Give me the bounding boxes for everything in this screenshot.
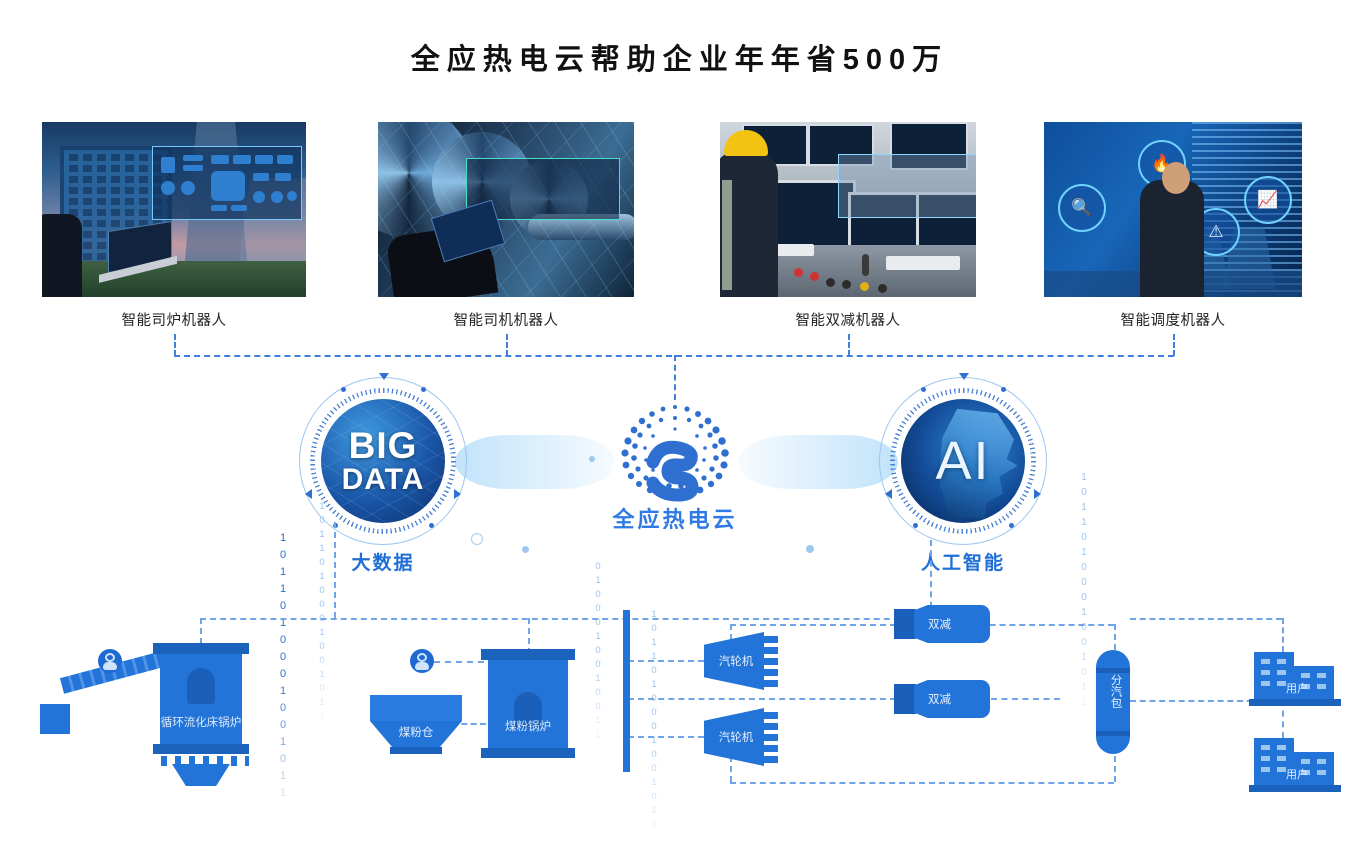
steam-drum-band-bottom [1096,731,1130,736]
ai-dot-tl [921,387,926,392]
turbine-1-fin [764,680,778,687]
customer-1-drop [1282,618,1284,652]
customer-2-window [1261,745,1270,750]
steam-drum: 分汽包 [1096,650,1130,754]
customer-2-window [1277,745,1286,750]
customer-2-base [1249,785,1341,792]
ai-text: AI [935,430,990,492]
turbine-2-fin [764,734,778,741]
caption-dropper-2 [506,334,508,356]
coal-bunker: 煤粉仓 [370,695,462,755]
binary-column-e: 1011010001001011 [1078,470,1090,710]
customer-2: 用户 [1254,738,1340,792]
turbine-2-fin [764,756,778,763]
bigdata-marker-top [379,373,389,380]
turbine-2-fin [764,745,778,752]
bigdata-dot-br [429,523,434,528]
page-title: 全应热电云帮助企业年年省500万 [0,36,1359,78]
turbine-1: 汽轮机 [704,632,778,690]
reducer-1-block [894,609,916,639]
steam-drum-label: 分汽包 [1105,674,1122,709]
robot-node-icon [98,649,122,673]
floating-dot-3 [806,545,814,553]
reducer-2-cone [914,680,990,718]
photo-card-1 [42,122,306,297]
binary-column-b: 1011010001001011 [316,500,328,724]
drum-to-customer-1-bus [1130,618,1282,620]
caption-dropper-3 [848,334,850,356]
bigdata-marker-left [305,489,312,499]
pc-boiler-top-cap [481,649,575,660]
floating-dot-2 [522,546,529,553]
reducer-1: 双减 [894,605,992,643]
turbine-2-fin [764,712,778,719]
photo-3-hud-overlay [838,154,976,218]
ai-label: 人工智能 [863,548,1063,575]
ai-dot-bl [913,523,918,528]
pc-boiler: 煤粉锅炉 [488,660,568,748]
coal-conveyor [40,686,170,732]
header-to-reducer-bus [628,698,896,700]
bigdata-marker-right [454,489,461,499]
turbine2-bottom-bus [730,782,1114,784]
bigdata-text: BIG DATA [342,427,425,495]
steam-drum-band-top [1096,668,1130,673]
customer-2-window [1277,756,1286,761]
turbine-1-label: 汽轮机 [708,653,764,669]
photo-caption-2: 智能司机机器人 [378,309,634,330]
bigdata-dot-tr [421,387,426,392]
header-to-turbine-1 [628,660,704,662]
ai-dot-br [1009,523,1014,528]
turbine-2: 汽轮机 [704,708,778,766]
photo-1-person [42,214,82,297]
ribbon-cloud-to-ai [738,435,898,489]
ai-marker-right [1034,489,1041,499]
caption-dropper-4 [1173,334,1175,356]
binary-column-d: 1011010001001011 [648,608,660,832]
customer-1-label: 用户 [1254,680,1340,696]
turbine1-to-reducer1 [730,624,896,626]
cloud-feed-dropper [674,355,676,400]
coal-bunker-foot [390,747,442,754]
ai-dot-tr [1001,387,1006,392]
reducer-1-cone [914,605,990,643]
photo-3-console-button [794,268,803,277]
turbine-1-fin [764,658,778,665]
ai-globe: AI [901,399,1025,523]
turbine-1-fin [764,636,778,643]
photo-3-console-joystick [862,254,869,276]
steam-header-pipe [623,610,630,772]
plant-top-bus [200,618,930,620]
ai-marker-top [959,373,969,380]
cloud-label: 全应热电云 [573,502,777,534]
bigdata-globe: BIG DATA [321,399,445,523]
photo-caption-4: 智能调度机器人 [1044,309,1302,330]
reducer-2-block [894,684,916,714]
photo-3-console-button [842,280,851,289]
reducer-2-label: 双减 [928,691,951,707]
photo-4-monitor-icon: 📈 [1244,176,1292,224]
photo-4-businessman-head [1162,162,1190,194]
binary-column-c: 0100010010011 [592,560,604,742]
customer-2-window [1261,756,1270,761]
turbine-1-fin [764,647,778,654]
photo-caption-3: 智能双减机器人 [720,309,976,330]
photo-card-4: 🔥 🔍 ⚠ 📈 [1044,122,1302,297]
customer-2-window [1301,759,1310,764]
customer-1-window [1317,673,1326,678]
reducer-1-label: 双减 [928,616,951,632]
binary-column-a: 1011010001001011 [276,530,290,802]
photo-4-businessman [1140,180,1204,297]
cfb-boiler-bottom-cap [153,744,249,754]
coal-bunker-label: 煤粉仓 [370,724,462,740]
coal-bunker-top [370,695,462,721]
bigdata-dot-tl [341,387,346,392]
bigdata-line-1: BIG [342,427,425,465]
floating-dot-1 [471,533,483,545]
photo-3-console-button [878,284,887,293]
header-to-turbine-2 [628,736,704,738]
customer-1-window [1261,670,1270,675]
cloud-logo-icon [601,396,749,508]
pc-boiler-bottom-cap [481,748,575,758]
bigdata-label: 大数据 [283,548,483,575]
ai-marker-left [885,489,892,499]
photo-3-console-button [860,282,869,291]
pc-boiler-label: 煤粉锅炉 [488,718,568,734]
cfb-boiler: 循环流化床锅炉 [160,654,242,744]
customer-1-window [1277,670,1286,675]
photo-1-hmi-overlay [152,146,302,220]
cfb-boiler-top-cap [153,643,249,654]
photo-4-chart-search-icon: 🔍 [1058,184,1106,232]
photo-1-laptop [108,221,172,273]
photo-card-2 [378,122,634,297]
robot-link-2 [434,661,484,663]
turbine-2-fin [764,723,778,730]
ai-node: AI [879,377,1047,545]
customer-1: 用户 [1254,652,1340,706]
robot-node-icon [410,649,434,673]
caption-dropper-1 [174,334,176,356]
customer-1-window [1261,659,1270,664]
customer-2-label: 用户 [1254,766,1340,782]
reducer-2: 双减 [894,680,992,718]
customer-2-window [1317,759,1326,764]
infographic-canvas: 全应热电云帮助企业年年省500万 智能司炉机器人 [0,0,1359,842]
photo-3-keyboard-2 [886,256,960,270]
conveyor-inlet-box [40,704,70,734]
photo-caption-1: 智能司炉机器人 [42,309,306,330]
cfb-boiler-label: 循环流化床锅炉 [160,714,242,730]
customer-1-window [1277,659,1286,664]
bigdata-line-2: DATA [342,465,425,496]
turbine-2-label: 汽轮机 [708,729,764,745]
cfb-boiler-ash-cone [172,764,230,786]
turbine-1-fin [764,669,778,676]
bigdata-down-line [334,522,336,618]
photo-3-console-button [810,272,819,281]
customer-1-base [1249,699,1341,706]
cfb-boiler-door [187,668,215,704]
ribbon-bigdata-to-cloud [455,435,615,489]
photo-3-operator [720,152,778,297]
photo-3-console-button [826,278,835,287]
photo-card-3 [720,122,976,297]
customer-1-window [1301,673,1310,678]
floating-dot-4 [589,456,595,462]
